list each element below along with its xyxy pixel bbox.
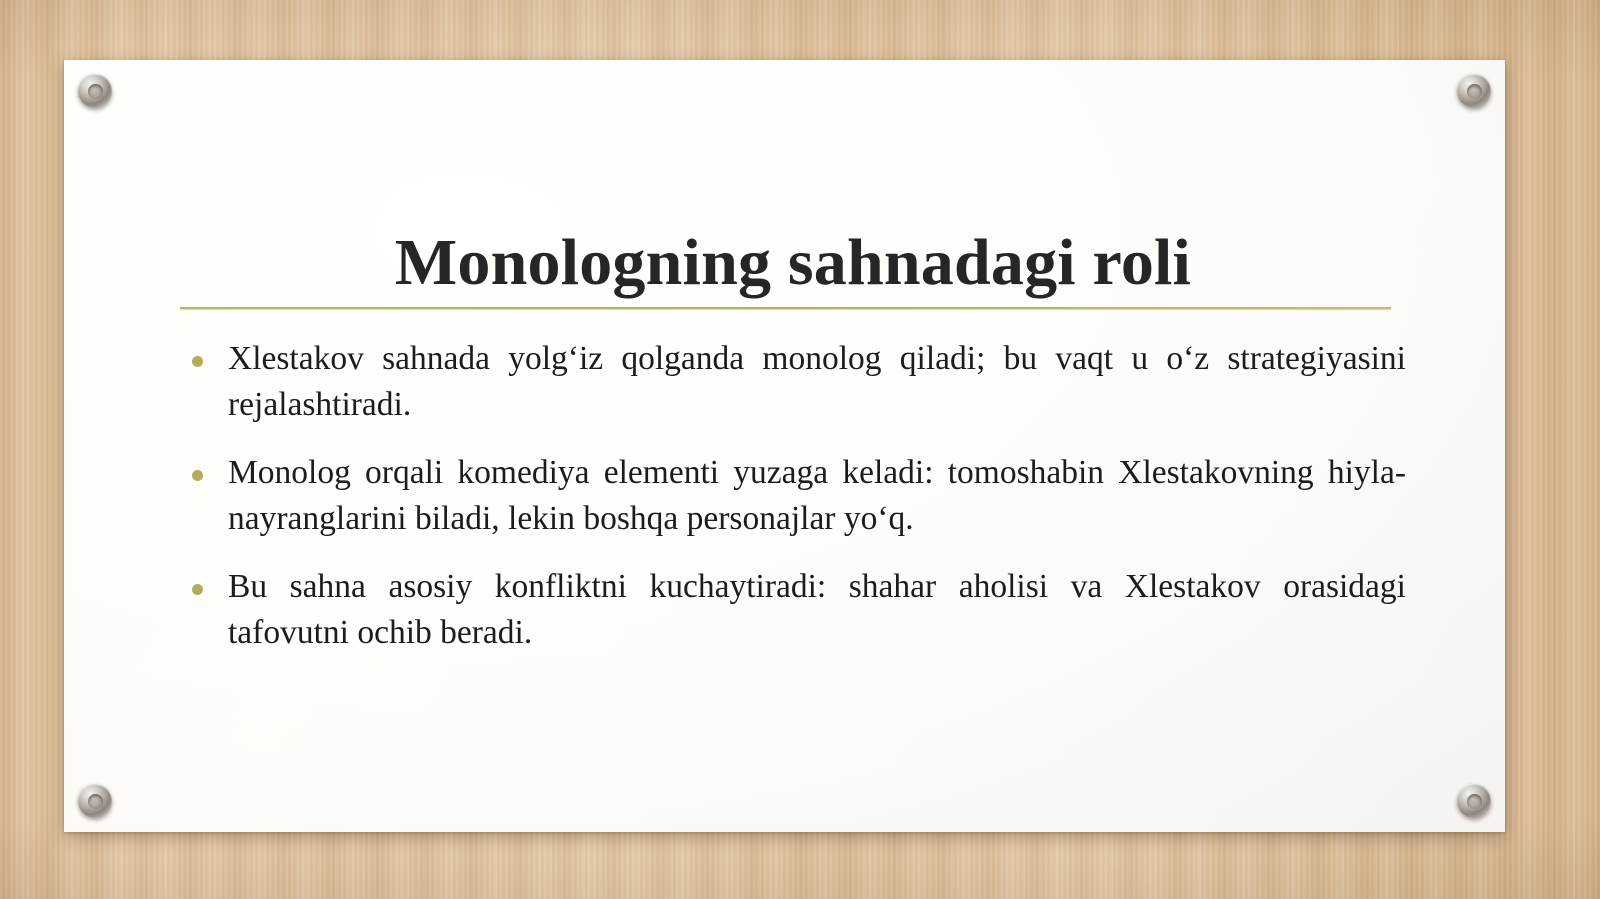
list-item: Bu sahna asosiy konfliktni kuchaytiradi:… [180,564,1406,655]
slide-content: Monologning sahnadagi roli Xlestakov sah… [180,60,1406,832]
bullet-dot-icon [192,584,203,595]
list-item-text: Monolog orqali komediya elementi yuzaga … [228,450,1406,541]
list-item-text: Bu sahna asosiy konfliktni kuchaytiradi:… [228,564,1406,655]
list-item-text: Xlestakov sahnada yolg‘iz qolganda monol… [228,336,1406,427]
list-item: Xlestakov sahnada yolg‘iz qolganda monol… [180,336,1406,427]
screw-icon-top-right [1457,74,1491,108]
slide-canvas: Monologning sahnadagi roli Xlestakov sah… [0,0,1600,899]
screw-icon-top-left [78,74,112,108]
bullet-dot-icon [192,356,203,367]
slide-title: Monologning sahnadagi roli [180,226,1406,300]
screw-icon-bottom-left [78,784,112,818]
bullet-list: Xlestakov sahnada yolg‘iz qolganda monol… [180,336,1406,655]
title-divider-rule [180,307,1391,309]
screw-icon-bottom-right [1457,784,1491,818]
slide-board-panel: Monologning sahnadagi roli Xlestakov sah… [64,60,1505,832]
list-item: Monolog orqali komediya elementi yuzaga … [180,450,1406,541]
bullet-dot-icon [192,470,203,481]
